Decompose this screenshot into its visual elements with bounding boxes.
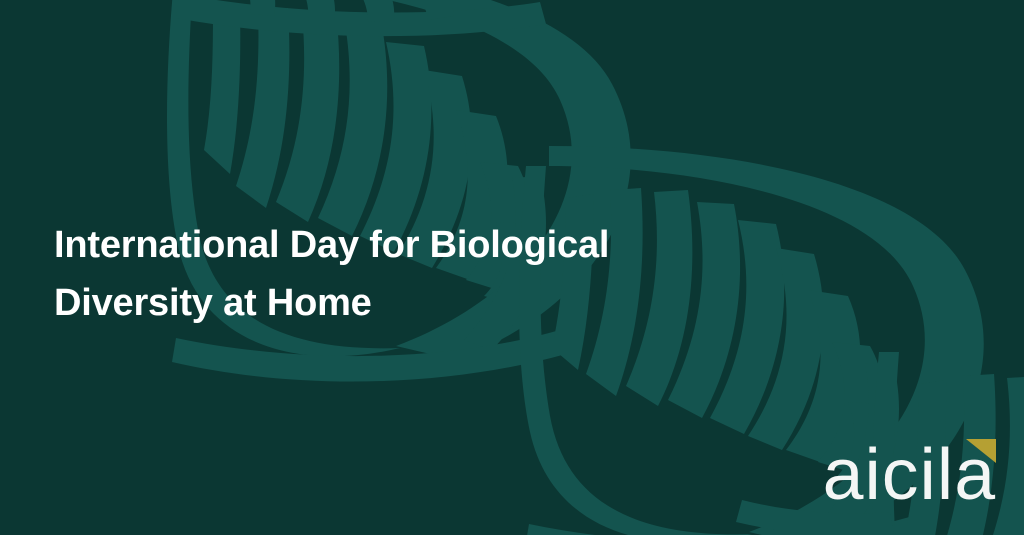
brand-logo[interactable]: aicila [796, 439, 996, 511]
brand-wordmark: aicila [823, 439, 996, 511]
page-title: International Day for Biological Diversi… [54, 216, 714, 332]
social-card: International Day for Biological Diversi… [0, 0, 1024, 535]
dna-top-fragment [176, 0, 546, 36]
